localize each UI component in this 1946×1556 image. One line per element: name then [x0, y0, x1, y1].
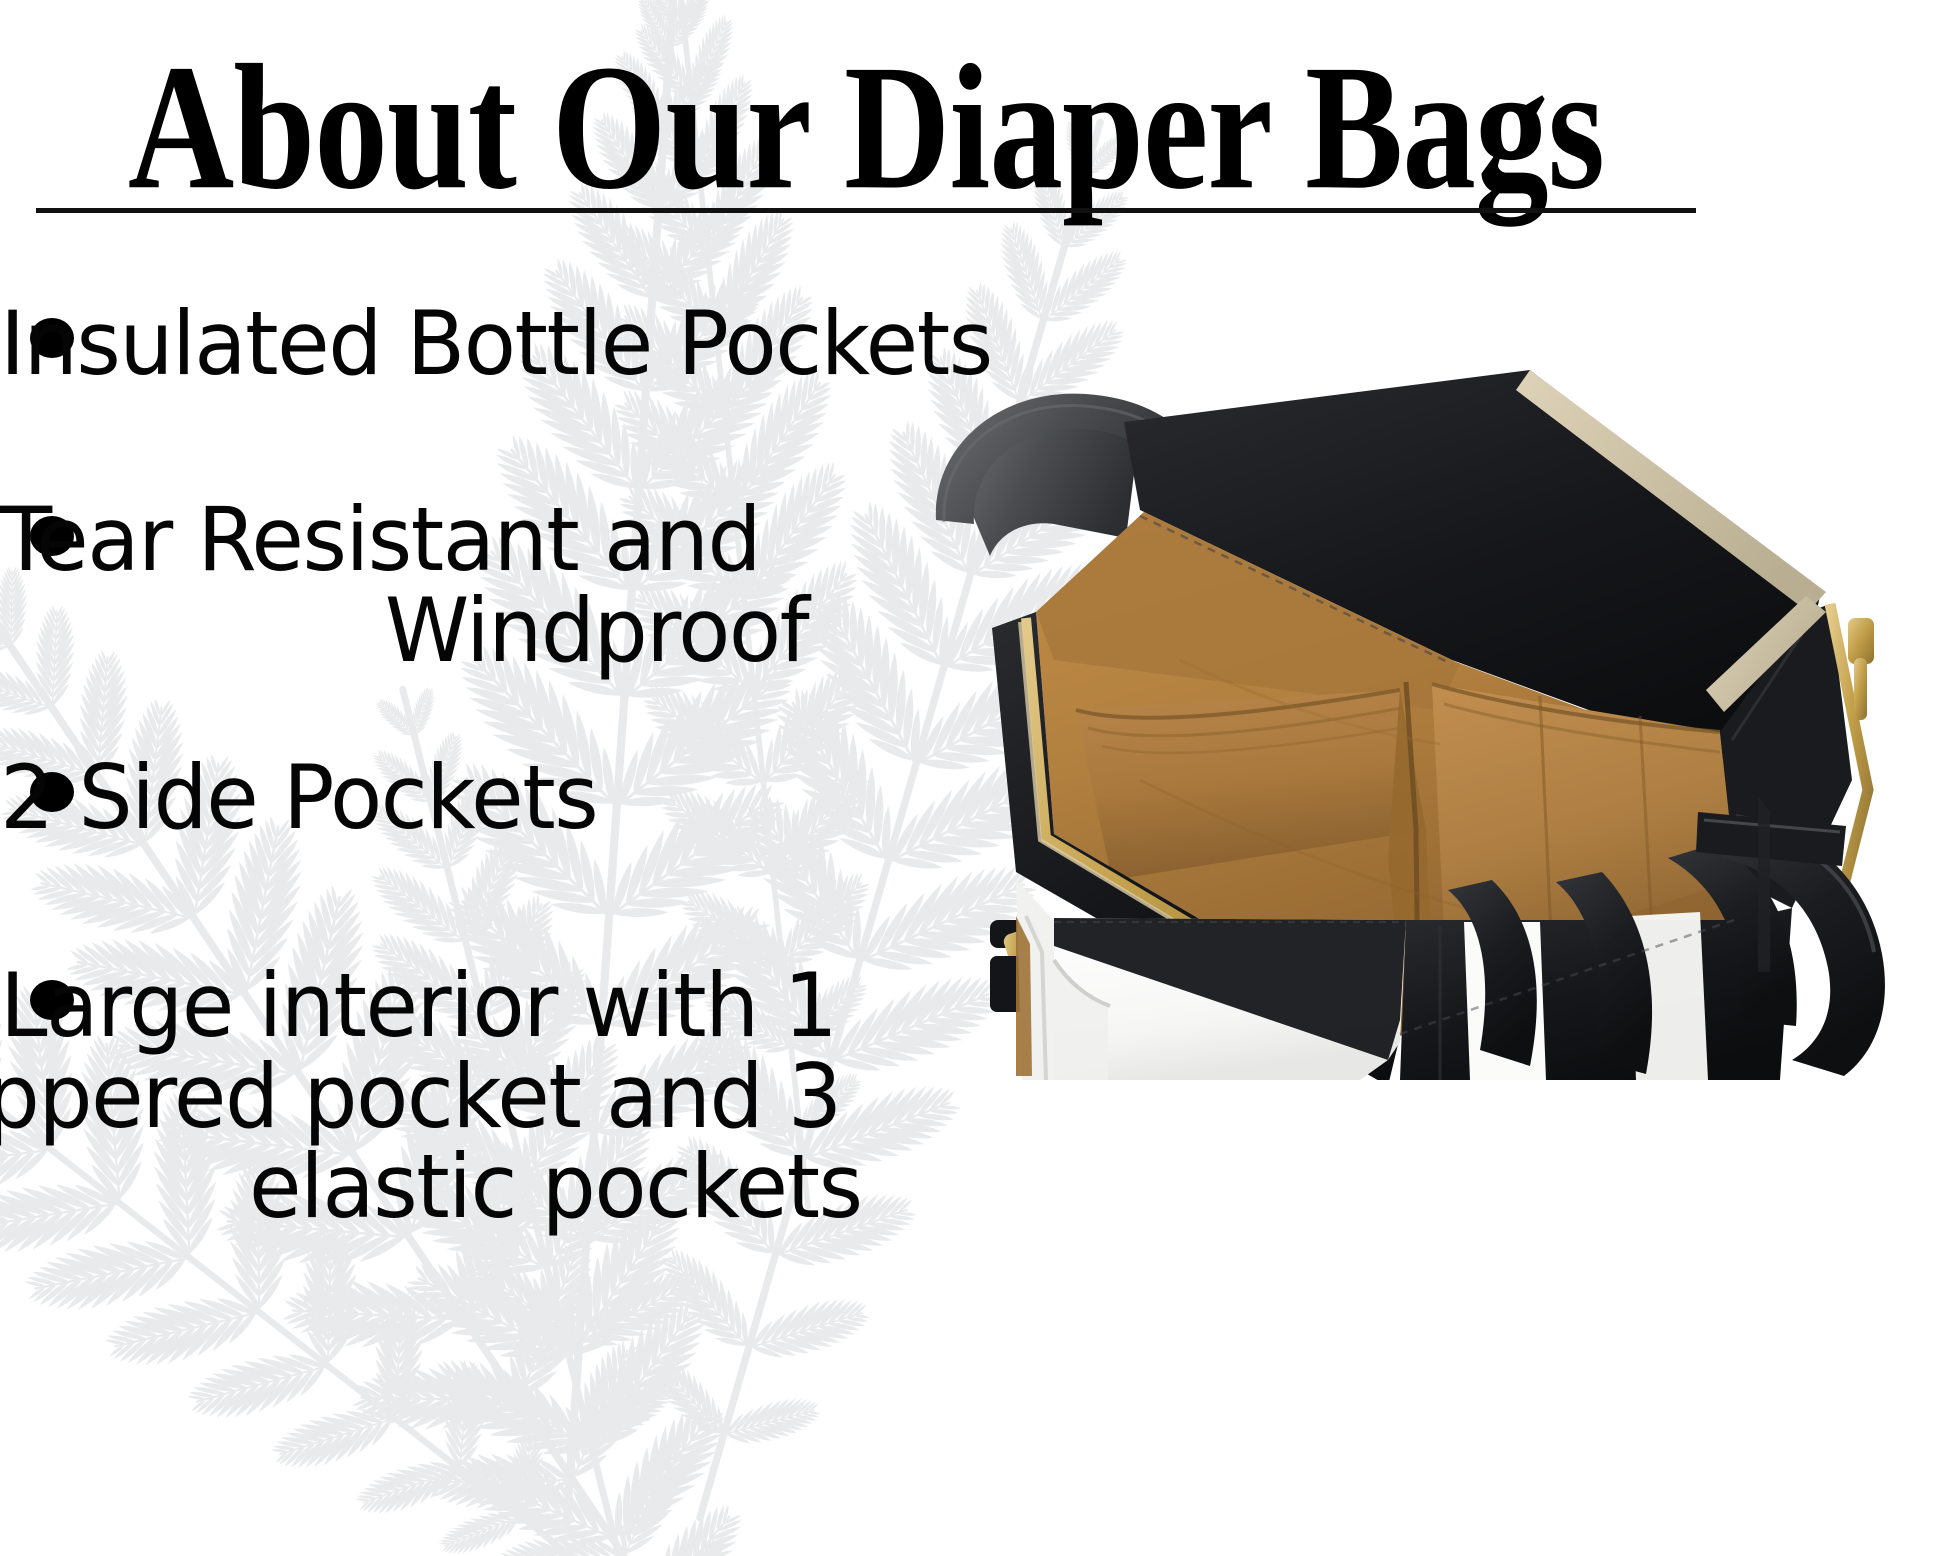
- promo-graphic-canvas: About Our Diaper Bags Insulated Bottle P…: [0, 0, 1946, 1556]
- page-title: About Our Diaper Bags: [102, 36, 1629, 219]
- feature-line: Tear Resistant and: [0, 495, 1193, 586]
- feature-line: Insulated Bottle Pockets: [0, 299, 1193, 390]
- list-item: Large interior with 1 zippered pocket an…: [0, 942, 1230, 1233]
- list-item: Insulated Bottle Pockets: [0, 280, 1230, 390]
- list-item: Tear Resistant and Windproof: [0, 476, 1230, 676]
- feature-line: Windproof: [0, 586, 1193, 677]
- feature-line: elastic pockets: [0, 1142, 1191, 1233]
- title-divider: [36, 208, 1696, 213]
- feature-line: zippered pocket and 3: [0, 1052, 1191, 1143]
- feature-line: Large interior with 1: [0, 961, 1193, 1052]
- feature-line: 2 Side Pockets: [0, 753, 1193, 844]
- list-item: 2 Side Pockets: [0, 734, 1230, 844]
